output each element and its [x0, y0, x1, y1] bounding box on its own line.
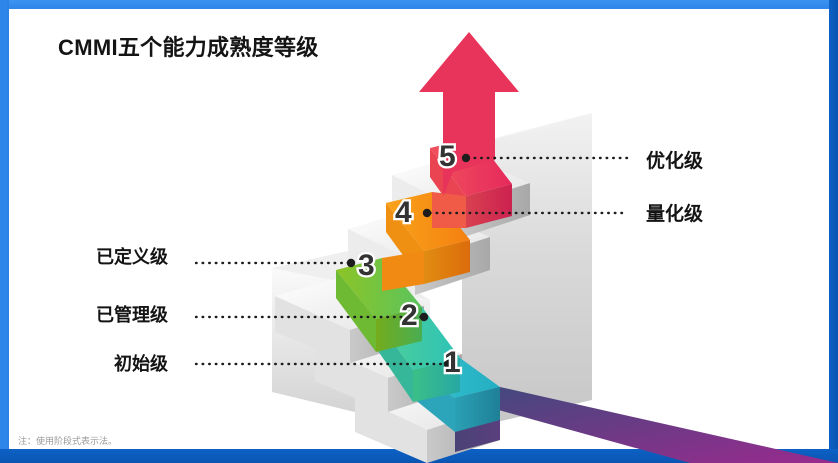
- page-title: CMMI五个能力成熟度等级: [58, 30, 319, 62]
- footnote: 注：使用阶段式表示法。: [18, 434, 117, 447]
- level-label-initial: 初始级: [114, 350, 168, 376]
- step-number-2: 2: [401, 299, 418, 332]
- level-label-quantitative: 量化级: [646, 199, 703, 226]
- step-number-5: 5: [439, 140, 456, 173]
- leader-dot-5: [462, 154, 470, 162]
- level-label-optimizing: 优化级: [646, 146, 703, 173]
- level-label-defined: 已定义级: [96, 243, 168, 269]
- staircase-diagram: 1 2 3 4 5: [0, 0, 838, 463]
- leader-dot-4: [423, 209, 431, 217]
- leader-dot-2: [420, 313, 428, 321]
- step-number-4: 4: [395, 196, 412, 229]
- ribbon-base: [455, 387, 838, 463]
- slide-canvas: 1 2 3 4 5 CMMI五个能力成熟度等级 已定义级 已管理级 初始级 优化…: [0, 0, 838, 463]
- step-number-3: 3: [358, 249, 375, 282]
- level-label-managed: 已管理级: [96, 301, 168, 327]
- step-number-1: 1: [444, 346, 461, 379]
- leader-dot-3: [347, 259, 355, 267]
